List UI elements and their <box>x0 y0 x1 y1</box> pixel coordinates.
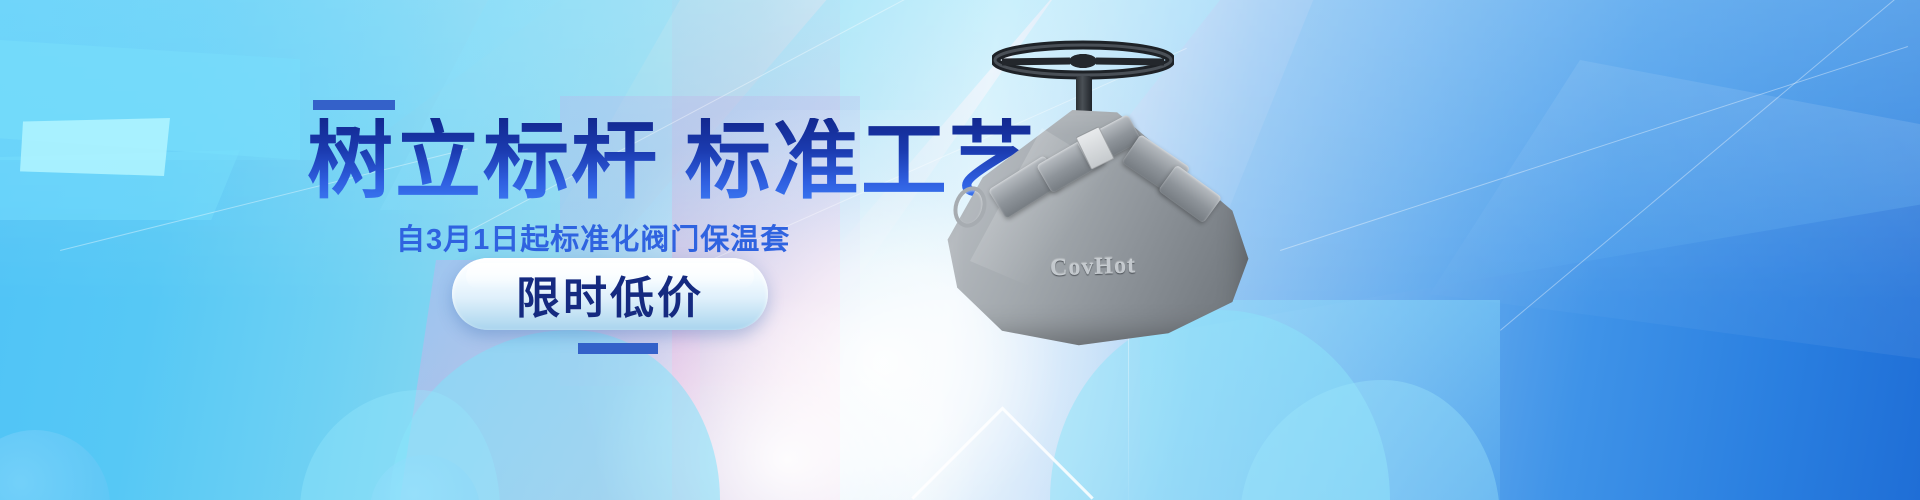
accent-bar-top <box>313 100 395 110</box>
promo-banner: 树立标杆 标准工艺 自3月1日起标准化阀门保温套 限时低价 CovHot <box>0 0 1920 500</box>
cta-button-label: 限时低价 <box>516 262 704 326</box>
subtitle-text: 自3月1日起标准化阀门保温套 <box>396 216 790 258</box>
page-title: 树立标杆 标准工艺 <box>307 118 1037 204</box>
product-image: CovHot <box>930 18 1270 348</box>
cta-button[interactable]: 限时低价 <box>452 258 768 330</box>
accent-bar-bottom <box>578 343 658 354</box>
product-brand-text: CovHot <box>1050 253 1137 283</box>
